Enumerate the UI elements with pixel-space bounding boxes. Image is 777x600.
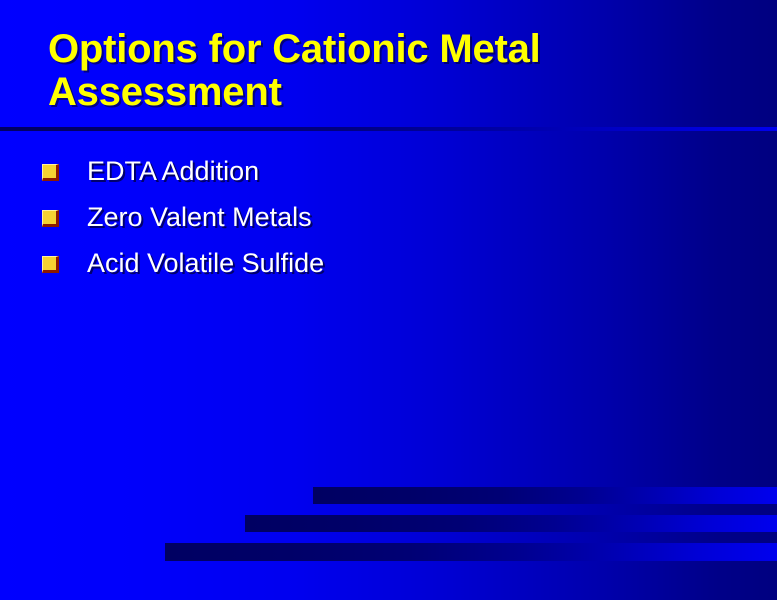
list-item: EDTA Addition [42, 155, 742, 188]
square-bullet-icon [42, 164, 59, 181]
bullet-item-label: EDTA Addition [87, 155, 259, 188]
bullet-item-label: Acid Volatile Sulfide [87, 247, 324, 280]
slide-title-block: Options for Cationic Metal Assessment [48, 28, 738, 114]
square-bullet-icon [42, 210, 59, 227]
title-divider-rule [0, 127, 777, 131]
decorative-bar-bottom [165, 543, 777, 561]
bullet-item-label: Zero Valent Metals [87, 201, 312, 234]
presentation-slide: Options for Cationic Metal Assessment ED… [0, 0, 777, 600]
list-item: Acid Volatile Sulfide [42, 247, 742, 280]
slide-title: Options for Cationic Metal Assessment [48, 28, 738, 114]
decorative-bar-top [313, 487, 777, 504]
list-item: Zero Valent Metals [42, 201, 742, 234]
square-bullet-icon [42, 256, 59, 273]
decorative-bar-middle [245, 515, 777, 532]
bullet-list: EDTA Addition Zero Valent Metals Acid Vo… [42, 155, 742, 293]
